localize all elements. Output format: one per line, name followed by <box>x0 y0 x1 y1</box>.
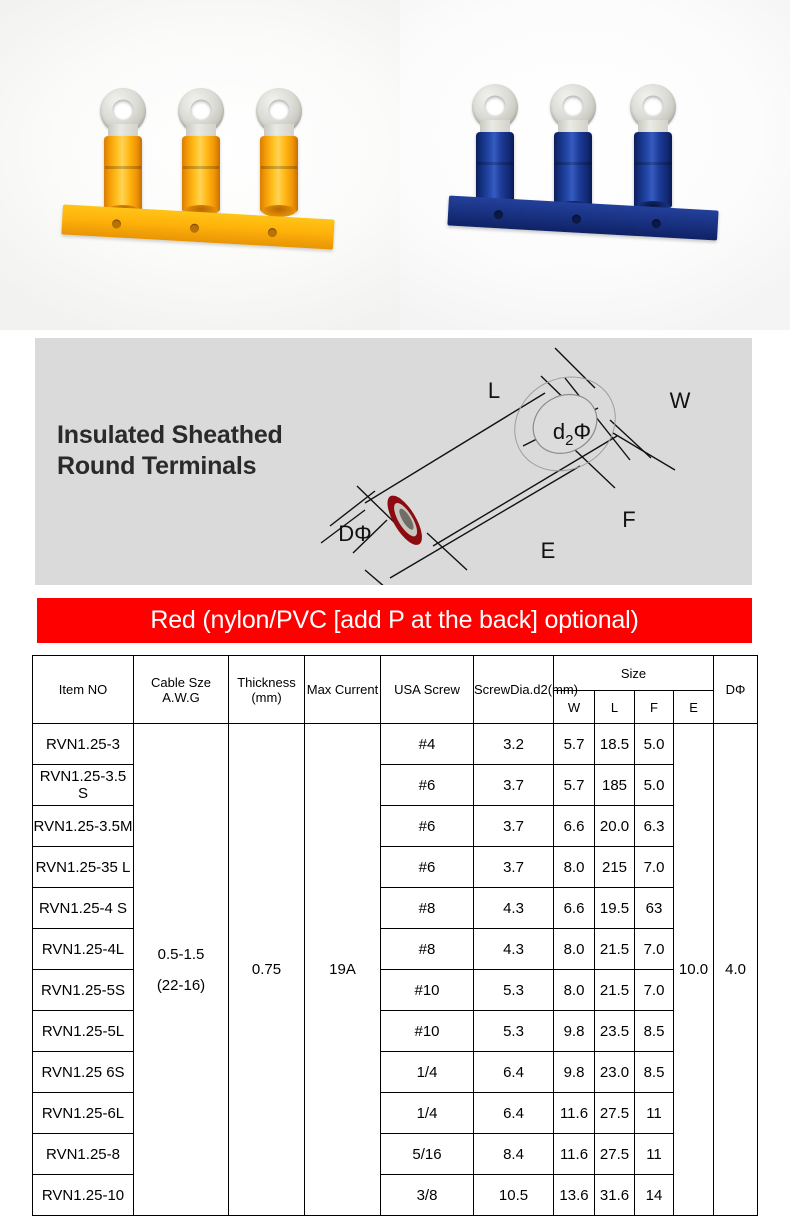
yellow-ring-terminals-photo <box>0 0 400 330</box>
cell-screw-dia: 6.4 <box>474 1052 554 1093</box>
terminal-blue-3 <box>630 84 676 130</box>
cell-screw-dia: 5.3 <box>474 1011 554 1052</box>
cell-size-f: 6.3 <box>635 806 674 847</box>
cell-size-l: 21.5 <box>595 970 635 1011</box>
cell-size-w: 8.0 <box>554 970 595 1011</box>
header-size-f: F <box>635 691 674 724</box>
cell-item-no: RVN1.25-5S <box>33 970 134 1011</box>
cell-size-w: 11.6 <box>554 1093 595 1134</box>
cell-item-no: RVN1.25-10 <box>33 1175 134 1216</box>
cell-screw-dia: 3.7 <box>474 765 554 806</box>
cell-item-no: RVN1.25-8 <box>33 1134 134 1175</box>
insulation-barrel <box>554 132 592 208</box>
label-L: L <box>488 378 500 403</box>
ext-line-F-end <box>610 420 651 458</box>
cell-size-f: 8.5 <box>635 1011 674 1052</box>
cell-size-f: 5.0 <box>635 724 674 765</box>
cell-usa-screw: 1/4 <box>381 1093 474 1134</box>
cell-size-f: 11 <box>635 1134 674 1175</box>
cell-screw-dia: 6.4 <box>474 1093 554 1134</box>
header-max-current: Max Current <box>305 656 381 724</box>
cell-usa-screw: #10 <box>381 1011 474 1052</box>
header-screw-dia: ScrewDia.d2(mm) <box>474 656 554 724</box>
cell-item-no: RVN1.25 6S <box>33 1052 134 1093</box>
cell-item-no: RVN1.25-3 <box>33 724 134 765</box>
cell-usa-screw: #8 <box>381 888 474 929</box>
header-usa-screw: USA Screw <box>381 656 474 724</box>
cell-usa-screw: #6 <box>381 847 474 888</box>
red-color-banner: Red (nylon/PVC [add P at the back] optio… <box>37 598 752 643</box>
cell-size-f: 11 <box>635 1093 674 1134</box>
header-d-phi: DΦ <box>714 656 758 724</box>
cell-usa-screw: #6 <box>381 765 474 806</box>
cell-size-w: 9.8 <box>554 1011 595 1052</box>
cell-screw-dia: 3.7 <box>474 806 554 847</box>
cell-max-current: 19A <box>305 724 381 1216</box>
cell-screw-dia: 8.4 <box>474 1134 554 1175</box>
cell-size-l: 18.5 <box>595 724 635 765</box>
cell-usa-screw: #4 <box>381 724 474 765</box>
cell-cable-size: 0.5-1.5 (22-16) <box>134 724 229 1216</box>
blue-ring-terminals-photo <box>400 0 790 330</box>
cell-size-f: 5.0 <box>635 765 674 806</box>
cell-size-l: 27.5 <box>595 1134 635 1175</box>
label-W: W <box>670 388 691 413</box>
cell-size-l: 185 <box>595 765 635 806</box>
cell-screw-dia: 10.5 <box>474 1175 554 1216</box>
cell-size-w: 9.8 <box>554 1052 595 1093</box>
cell-size-l: 31.6 <box>595 1175 635 1216</box>
carrier-strip-blue <box>447 195 718 240</box>
cell-size-w: 6.6 <box>554 888 595 929</box>
terminal-blue-2 <box>550 84 596 130</box>
terminal-yellow-2 <box>178 88 224 134</box>
terminal-dimension-drawing: L W d2Φ DΦ F E <box>35 338 752 585</box>
cell-size-l: 23.0 <box>595 1052 635 1093</box>
cell-size-w: 13.6 <box>554 1175 595 1216</box>
header-item-no: Item NO <box>33 656 134 724</box>
cell-size-l: 215 <box>595 847 635 888</box>
ring-terminal-body <box>372 359 633 565</box>
insulation-barrel <box>182 136 220 212</box>
cell-size-f: 7.0 <box>635 847 674 888</box>
cell-item-no: RVN1.25-3.5M <box>33 806 134 847</box>
cell-usa-screw: 3/8 <box>381 1175 474 1216</box>
cell-size-w: 8.0 <box>554 929 595 970</box>
cell-screw-dia: 5.3 <box>474 970 554 1011</box>
product-photo-strip <box>0 0 790 330</box>
cell-thickness: 0.75 <box>229 724 305 1216</box>
specification-table: Item NO Cable Sze A.W.G Thickness (mm) M… <box>32 655 758 1216</box>
cell-size-w: 5.7 <box>554 724 595 765</box>
cell-screw-dia: 3.7 <box>474 847 554 888</box>
cell-item-no: RVN1.25-4L <box>33 929 134 970</box>
ext-line-F-start <box>427 533 467 570</box>
insulation-barrel <box>634 132 672 208</box>
cell-size-w: 8.0 <box>554 847 595 888</box>
insulation-barrel <box>260 136 298 212</box>
cell-usa-screw: 5/16 <box>381 1134 474 1175</box>
cell-item-no: RVN1.25-5L <box>33 1011 134 1052</box>
cell-size-f: 7.0 <box>635 970 674 1011</box>
cell-item-no: RVN1.25-4 S <box>33 888 134 929</box>
cell-item-no: RVN1.25-3.5 S <box>33 765 134 806</box>
terminal-yellow-3 <box>256 88 302 134</box>
cell-size-f: 63 <box>635 888 674 929</box>
cell-usa-screw: #8 <box>381 929 474 970</box>
table-row: RVN1.25-3 0.5-1.5 (22-16) 0.75 19A #4 3.… <box>33 724 758 765</box>
terminal-blue-1 <box>472 84 518 130</box>
cell-screw-dia: 4.3 <box>474 888 554 929</box>
cell-screw-dia: 4.3 <box>474 929 554 970</box>
cell-usa-screw: 1/4 <box>381 1052 474 1093</box>
table-header-row-top: Item NO Cable Sze A.W.G Thickness (mm) M… <box>33 656 758 691</box>
header-size-l: L <box>595 691 635 724</box>
cell-size-w: 6.6 <box>554 806 595 847</box>
cell-usa-screw: #10 <box>381 970 474 1011</box>
cell-item-no: RVN1.25-6L <box>33 1093 134 1134</box>
label-F: F <box>622 507 635 532</box>
cell-size-w: 5.7 <box>554 765 595 806</box>
cell-d-phi: 4.0 <box>714 724 758 1216</box>
carrier-body <box>447 195 718 240</box>
cell-size-e: 10.0 <box>674 724 714 1216</box>
cell-usa-screw: #6 <box>381 806 474 847</box>
cell-size-w: 11.6 <box>554 1134 595 1175</box>
header-size-e: E <box>674 691 714 724</box>
cell-size-l: 27.5 <box>595 1093 635 1134</box>
cell-size-l: 19.5 <box>595 888 635 929</box>
header-thickness: Thickness (mm) <box>229 656 305 724</box>
dimension-diagram-panel: Insulated Sheathed Round Terminals <box>35 338 752 585</box>
cell-size-f: 8.5 <box>635 1052 674 1093</box>
table-body: RVN1.25-3 0.5-1.5 (22-16) 0.75 19A #4 3.… <box>33 724 758 1216</box>
cell-size-f: 14 <box>635 1175 674 1216</box>
label-E: E <box>541 538 556 563</box>
cell-size-l: 21.5 <box>595 929 635 970</box>
cable-size-awg: (22-16) <box>134 977 228 994</box>
cell-item-no: RVN1.25-35 L <box>33 847 134 888</box>
banner-label: Red (nylon/PVC [add P at the back] optio… <box>150 606 638 635</box>
cell-size-f: 7.0 <box>635 929 674 970</box>
cell-screw-dia: 3.2 <box>474 724 554 765</box>
label-D-phi: DΦ <box>338 521 371 546</box>
insulation-barrel <box>104 136 142 212</box>
terminal-yellow-1 <box>100 88 146 134</box>
cell-size-l: 23.5 <box>595 1011 635 1052</box>
cable-size-range: 0.5-1.5 <box>158 946 205 963</box>
header-cable-size: Cable Sze A.W.G <box>134 656 229 724</box>
cell-size-l: 20.0 <box>595 806 635 847</box>
